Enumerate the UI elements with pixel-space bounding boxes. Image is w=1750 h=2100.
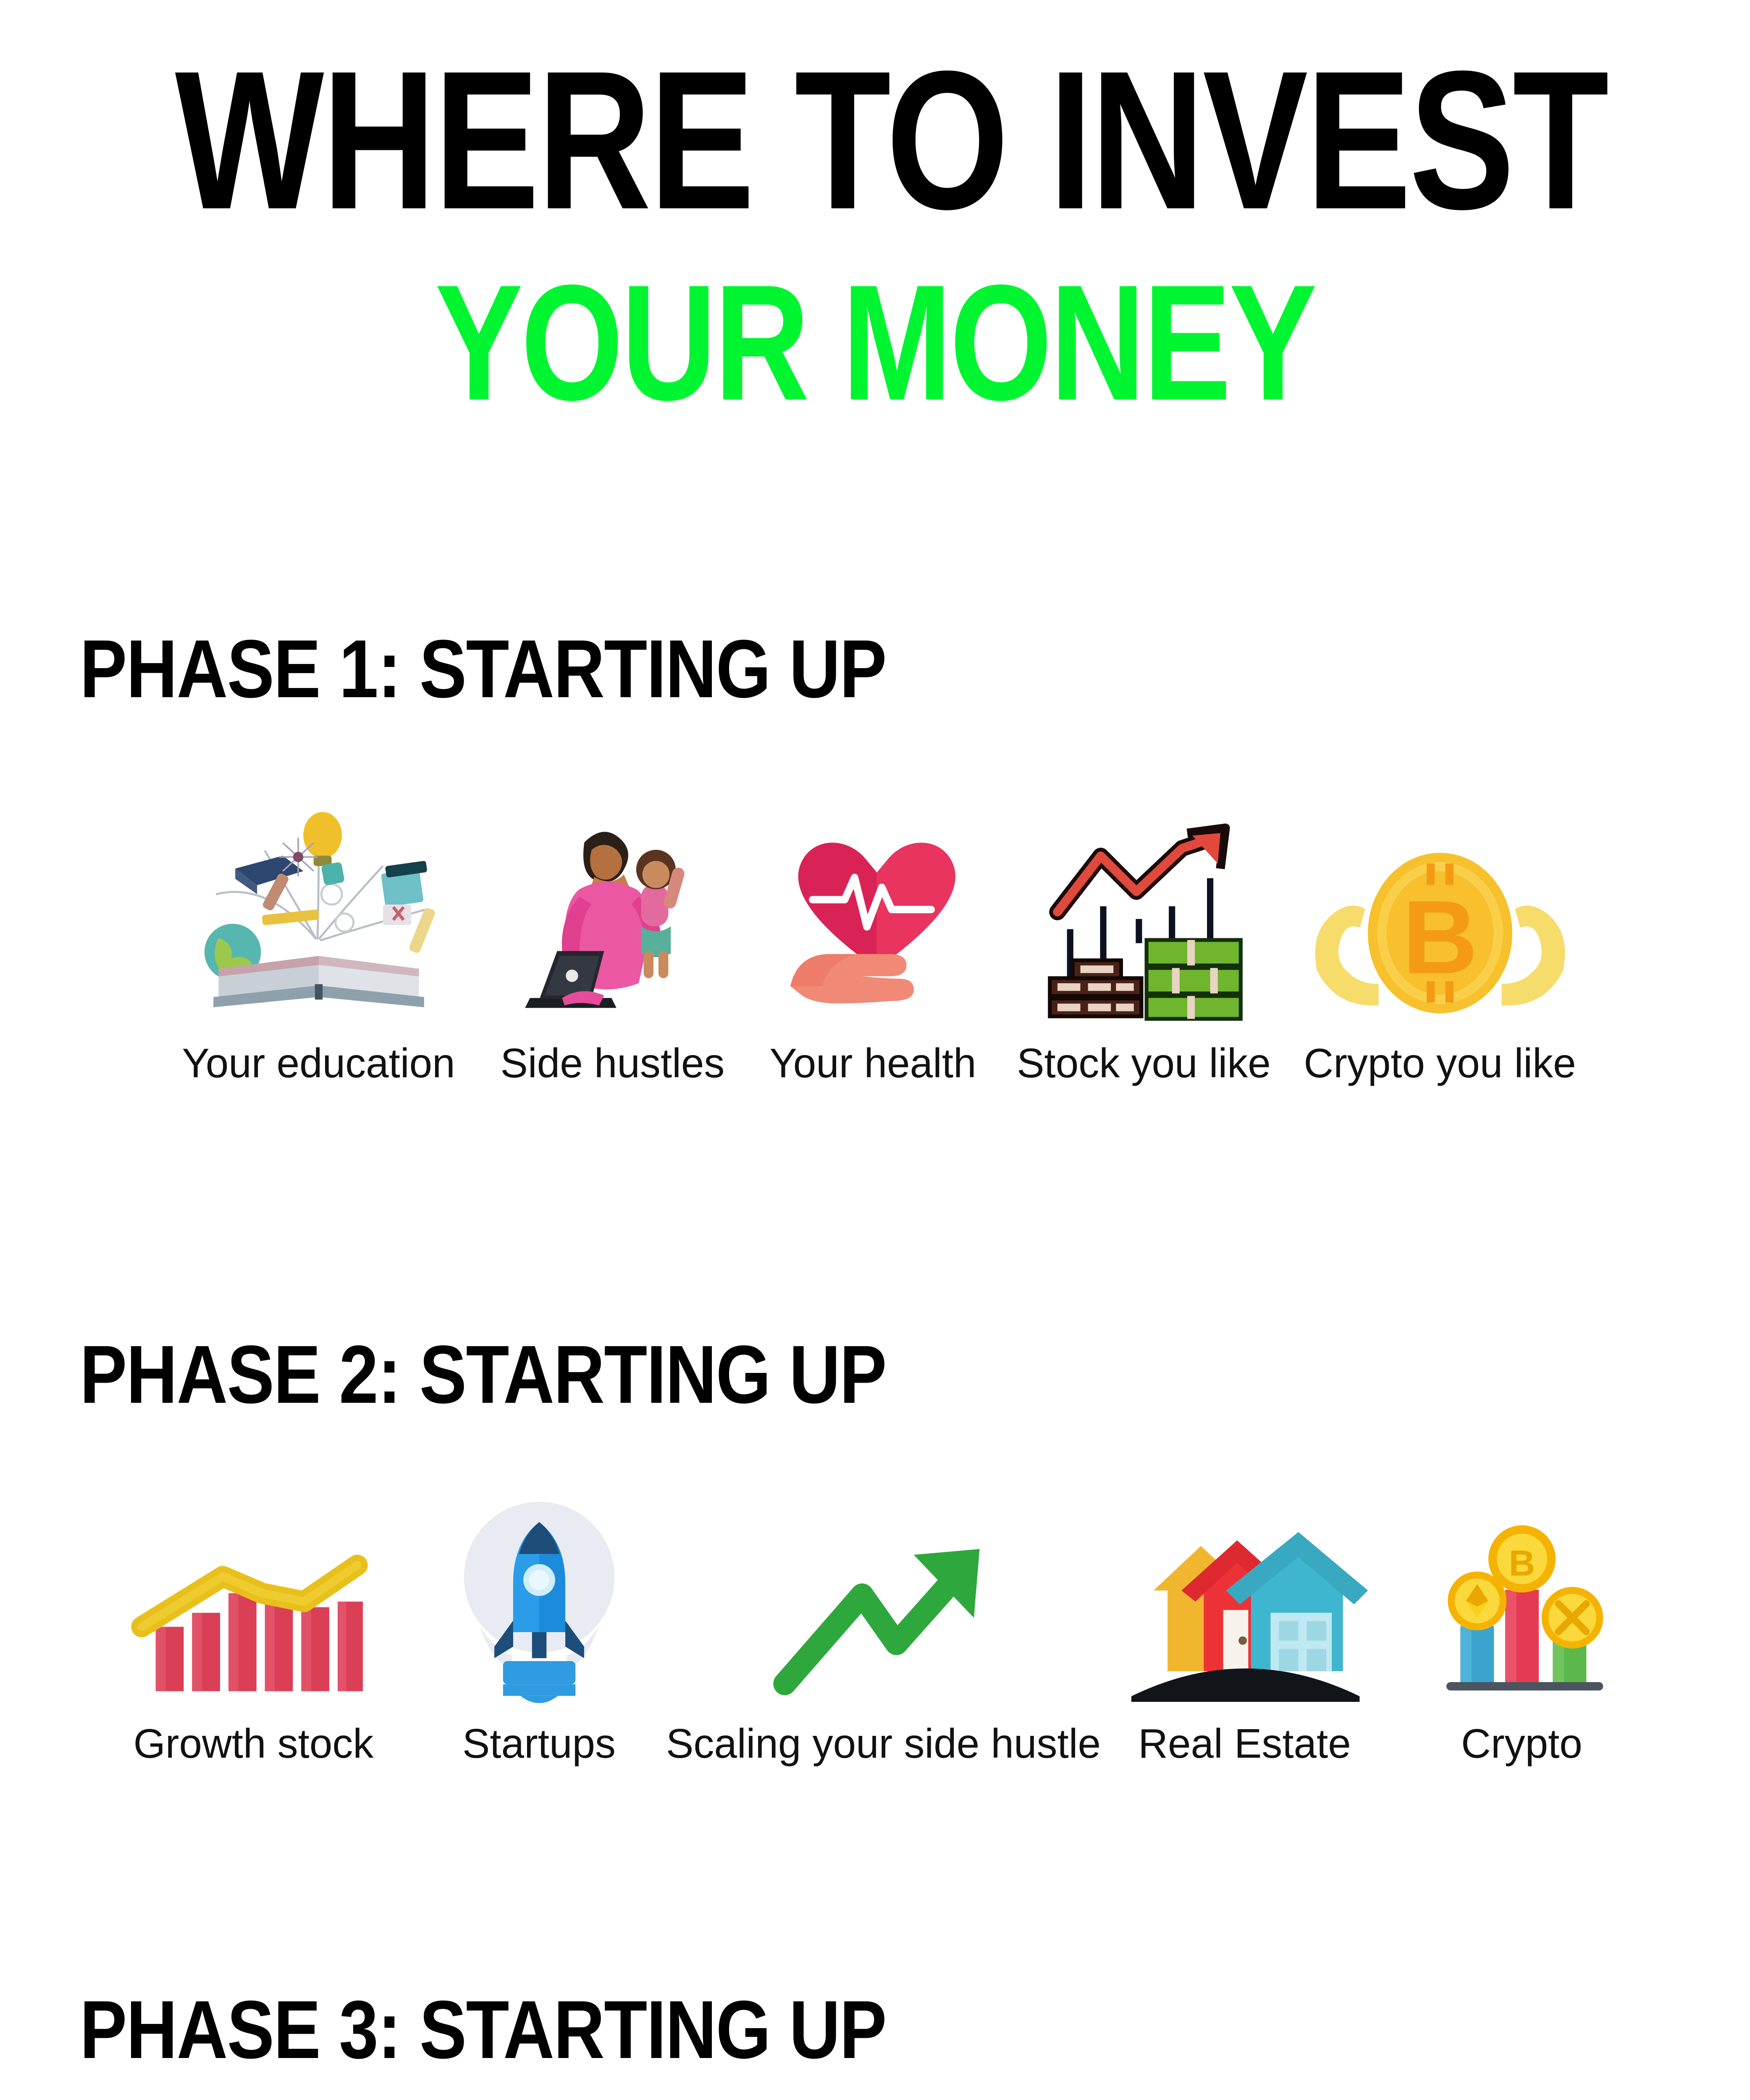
item-stock-you-like[interactable]: Stock you like (999, 787, 1289, 1087)
bitcoin-muscle-icon: B (1306, 842, 1574, 1023)
three-houses-hill-icon (1123, 1506, 1367, 1703)
stock-chart-bricks-icon (1026, 813, 1262, 1023)
item-your-health[interactable]: Your health (747, 787, 999, 1087)
poster-title: WHERE TO INVEST YOUR MONEY (0, 0, 1750, 419)
item-startups[interactable]: Startups (409, 1485, 669, 1767)
open-book-ideas-icon (189, 804, 449, 1023)
title-line-accent: YOUR MONEY (175, 267, 1575, 419)
phase-2-items-row: Growth stock (0, 1485, 1750, 1767)
phase-1-items-row: Your education (0, 787, 1750, 1087)
infographic-poster: WHERE TO INVEST YOUR MONEY PHASE 1: STAR… (0, 0, 1750, 2100)
crypto-coins-bars-icon: B (1423, 1514, 1621, 1703)
item-side-hustles[interactable]: Side hustles (478, 787, 747, 1087)
woman-laptop-baby-icon (504, 813, 722, 1023)
hand-heart-pulse-icon (768, 821, 978, 1023)
phase-1-heading: PHASE 1: STARTING UP (80, 622, 1516, 716)
rocket-lightbulb-icon (443, 1493, 636, 1703)
phase-section-1: PHASE 1: STARTING UP (0, 622, 1750, 1087)
item-label: Crypto (1461, 1720, 1582, 1767)
phase-2-heading: PHASE 2: STARTING UP (80, 1327, 1516, 1422)
bar-chart-trendline-icon (128, 1506, 380, 1703)
item-label: Growth stock (134, 1720, 374, 1767)
green-zigzag-arrow-icon (762, 1522, 1005, 1703)
item-label: Crypto you like (1304, 1039, 1576, 1087)
item-label: Your health (769, 1039, 976, 1087)
item-your-education[interactable]: Your education (159, 787, 478, 1087)
svg-text:B: B (1402, 879, 1477, 995)
title-line-primary: WHERE TO INVEST (175, 50, 1575, 231)
phase-section-2: PHASE 2: STARTING UP (0, 1327, 1750, 1767)
item-label: Startups (462, 1720, 616, 1767)
item-crypto-you-like[interactable]: B Crypto you like (1289, 787, 1591, 1087)
item-label: Your education (182, 1039, 455, 1087)
item-label: Scaling your side hustle (666, 1720, 1101, 1767)
svg-text:B: B (1509, 1543, 1535, 1584)
phase-section-3: PHASE 3: STARTING UP (0, 1982, 1750, 2100)
item-scaling-side-hustle[interactable]: Scaling your side hustle (669, 1485, 1098, 1767)
phase-3-heading: PHASE 3: STARTING UP (80, 1982, 1516, 2077)
item-growth-stock[interactable]: Growth stock (98, 1485, 409, 1767)
item-real-estate[interactable]: Real Estate (1098, 1485, 1392, 1767)
item-crypto[interactable]: B Crypto (1392, 1485, 1652, 1767)
item-label: Real Estate (1138, 1720, 1351, 1767)
item-label: Stock you like (1017, 1039, 1271, 1087)
item-label: Side hustles (501, 1039, 725, 1087)
